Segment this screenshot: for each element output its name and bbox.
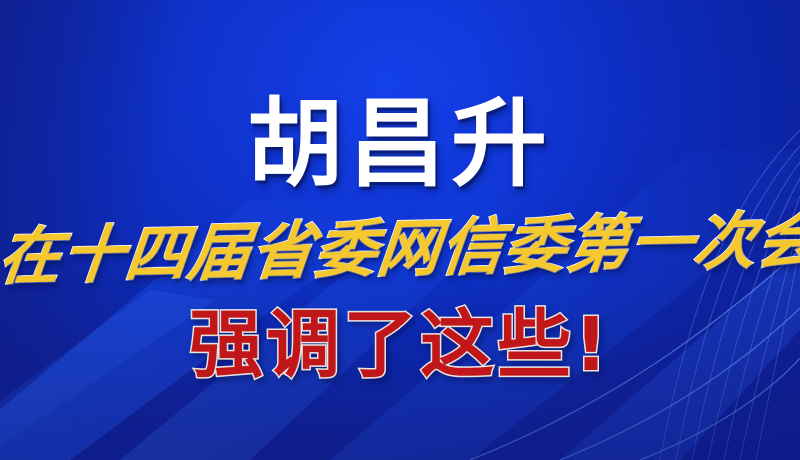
headline-occasion: 在十四届省委网信委第一次会议上 xyxy=(0,210,800,289)
headline-name: 胡昌升 xyxy=(0,96,800,192)
news-banner-poster: 胡昌升 在十四届省委网信委第一次会议上 强调了这些! xyxy=(0,0,800,460)
headline-text-stack: 胡昌升 在十四届省委网信委第一次会议上 强调了这些! xyxy=(0,0,800,460)
headline-emphasis: 强调了这些! xyxy=(0,308,800,382)
